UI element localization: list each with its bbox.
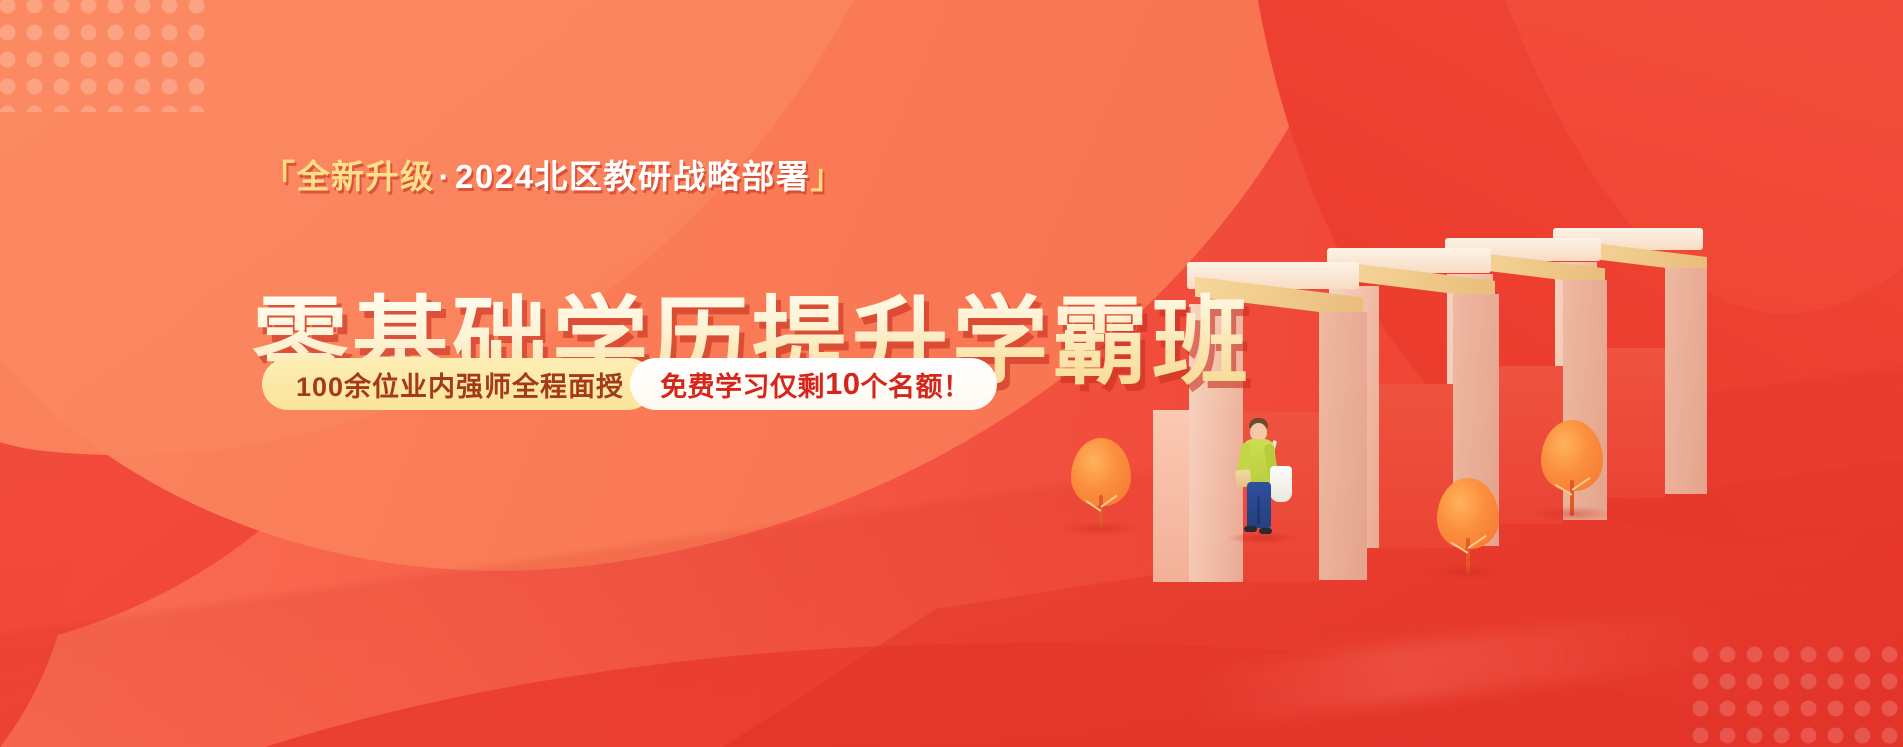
tote-bag xyxy=(1270,466,1292,502)
subtitle-highlight: 全新升级 xyxy=(297,158,435,195)
text-content: 「全新升级·2024北区教研战略部署」 零基础学历提升学霸班 100余位业内强师… xyxy=(0,0,1060,747)
subtitle-open-bracket: 「 xyxy=(262,158,297,195)
shoe-left xyxy=(1244,526,1257,532)
subtitle-close-bracket: 」 xyxy=(810,158,845,195)
badge-teachers[interactable]: 100余位业内强师全程面授 xyxy=(262,358,654,410)
badge-quota-prefix: 免费学习仅剩 xyxy=(660,365,825,404)
badge-teachers-label: 100余位业内强师全程面授 xyxy=(296,365,624,404)
student-figure xyxy=(1239,416,1309,546)
subtitle-separator: · xyxy=(435,158,456,195)
badge-quota-number: 10 xyxy=(825,366,860,402)
tree-right xyxy=(1541,420,1603,516)
subtitle-rest: 2024北区教研战略部署 xyxy=(455,158,810,195)
badge-quota-suffix: 个名额！ xyxy=(861,365,971,404)
leg-split xyxy=(1257,496,1260,524)
shoe-right xyxy=(1259,528,1272,534)
tree-left xyxy=(1071,438,1131,530)
tree-mid xyxy=(1437,478,1499,574)
badge-row: 100余位业内强师全程面授 免费学习仅剩10个名额！ xyxy=(262,358,997,410)
promo-banner: 「全新升级·2024北区教研战略部署」 零基础学历提升学霸班 100余位业内强师… xyxy=(0,0,1903,747)
badge-quota[interactable]: 免费学习仅剩10个名额！ xyxy=(630,358,996,410)
banner-subtitle: 「全新升级·2024北区教研战略部署」 xyxy=(262,160,845,193)
